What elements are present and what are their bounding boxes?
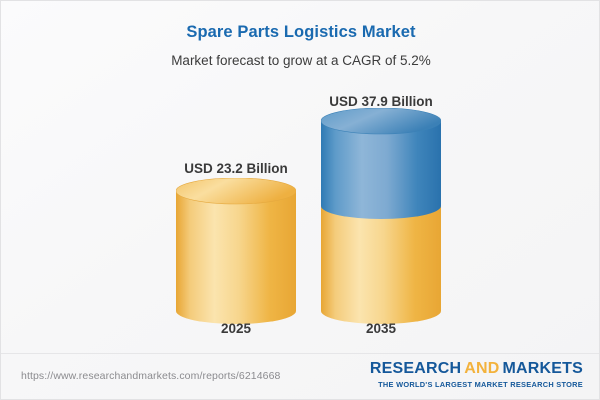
chart-plot-area: USD 23.2 Billion (1, 1, 600, 353)
bar-2025 (176, 178, 296, 324)
research-and-markets-logo[interactable]: RESEARCHANDMARKETS THE WORLD'S LARGEST M… (370, 361, 583, 389)
logo-word-research: RESEARCH (370, 360, 461, 377)
bar-2035-cylinder-svg (321, 108, 441, 324)
bar-2035-top-cap (321, 108, 441, 134)
logo-wordmark: RESEARCHANDMARKETS (370, 361, 583, 378)
category-label-2035: 2035 (261, 321, 501, 336)
logo-tagline: THE WORLD'S LARGEST MARKET RESEARCH STOR… (370, 380, 583, 389)
logo-word-markets: MARKETS (502, 360, 583, 377)
infographic-card: Spare Parts Logistics Market Market fore… (0, 0, 600, 400)
bar-2035 (321, 108, 441, 324)
bar-2025-cylinder-svg (176, 178, 296, 324)
bar-2025-top-cap (176, 178, 296, 204)
bar-2035-segment-base (321, 206, 441, 324)
data-label-2025: USD 23.2 Billion (116, 161, 356, 176)
logo-word-and: AND (464, 360, 499, 377)
source-url-link[interactable]: https://www.researchandmarkets.com/repor… (21, 370, 280, 382)
bar-2025-body (176, 191, 296, 324)
data-label-2035: USD 37.9 Billion (261, 94, 501, 109)
bar-2035-segment-growth (321, 121, 441, 219)
footer: https://www.researchandmarkets.com/repor… (1, 353, 600, 400)
